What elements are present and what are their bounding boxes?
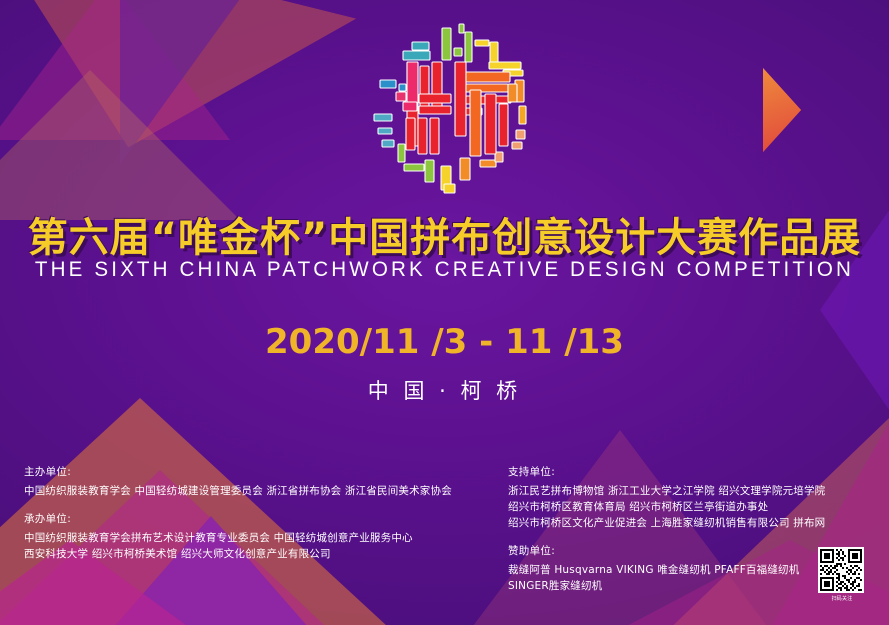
sponsors-line: SINGER胜家缝纫机 bbox=[508, 578, 838, 594]
undertakers-heading: 承办单位: bbox=[24, 511, 494, 526]
credits-section: 主办单位: 中国纺织服装教育学会 中国轻纺城建设管理委员会 浙江省拼布协会 浙江… bbox=[0, 0, 889, 625]
sponsors-line: 裁缝阿普 Husqvarna VIKING 唯金缝纫机 PFAFF百福缝纫机 bbox=[508, 562, 838, 578]
credits-column-left: 主办单位: 中国纺织服装教育学会 中国轻纺城建设管理委员会 浙江省拼布协会 浙江… bbox=[24, 464, 494, 562]
supporters-line: 绍兴市柯桥区文化产业促进会 上海胜家缝纫机销售有限公司 拼布网 bbox=[508, 515, 838, 531]
sponsors-group: 赞助单位: 裁缝阿普 Husqvarna VIKING 唯金缝纫机 PFAFF百… bbox=[508, 543, 838, 594]
qr-code[interactable] bbox=[818, 547, 864, 593]
undertakers-group: 承办单位: 中国纺织服装教育学会拼布艺术设计教育专业委员会 中国轻纺城创意产业服… bbox=[24, 511, 494, 562]
organizers-heading: 主办单位: bbox=[24, 464, 494, 479]
poster-canvas: 第六届“唯金杯”中国拼布创意设计大赛作品展 THE SIXTH CHINA PA… bbox=[0, 0, 889, 625]
sponsors-heading: 赞助单位: bbox=[508, 543, 838, 558]
qr-code-block[interactable]: 扫码关注 bbox=[818, 547, 866, 602]
organizers-line: 中国纺织服装教育学会 中国轻纺城建设管理委员会 浙江省拼布协会 浙江省民间美术家… bbox=[24, 483, 494, 499]
undertakers-line: 中国纺织服装教育学会拼布艺术设计教育专业委员会 中国轻纺城创意产业服务中心 bbox=[24, 530, 494, 546]
supporters-heading: 支持单位: bbox=[508, 464, 838, 479]
qr-code-caption: 扫码关注 bbox=[818, 595, 866, 602]
credits-column-right: 支持单位: 浙江民艺拼布博物馆 浙江工业大学之江学院 绍兴文理学院元培学院 绍兴… bbox=[508, 464, 838, 594]
supporters-line: 绍兴市柯桥区教育体育局 绍兴市柯桥区兰亭街道办事处 bbox=[508, 499, 838, 515]
undertakers-line: 西安科技大学 绍兴市柯桥美术馆 绍兴大师文化创意产业有限公司 bbox=[24, 546, 494, 562]
supporters-line: 浙江民艺拼布博物馆 浙江工业大学之江学院 绍兴文理学院元培学院 bbox=[508, 483, 838, 499]
supporters-group: 支持单位: 浙江民艺拼布博物馆 浙江工业大学之江学院 绍兴文理学院元培学院 绍兴… bbox=[508, 464, 838, 531]
organizers-group: 主办单位: 中国纺织服装教育学会 中国轻纺城建设管理委员会 浙江省拼布协会 浙江… bbox=[24, 464, 494, 499]
